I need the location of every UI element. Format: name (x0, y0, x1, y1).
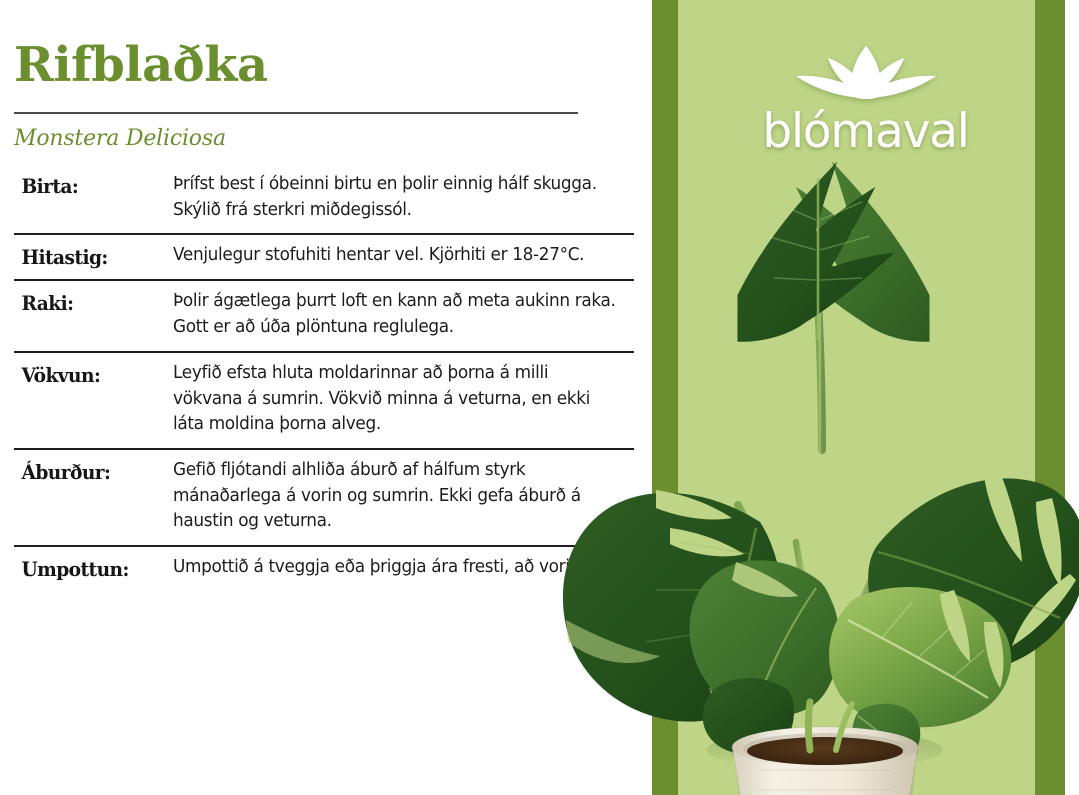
care-text: Leyfið efsta hluta moldarinnar að þorna … (173, 361, 618, 438)
panel-stripe-right (1035, 0, 1065, 795)
panel-stripe-left (652, 0, 678, 795)
care-label: Raki: (14, 289, 162, 315)
page-title: Rifblaðka (14, 40, 268, 90)
care-text: Gefið fljótandi alhliða áburð af hálfum … (173, 458, 618, 535)
care-text: Þrífst best í óbeinni birtu en þolir ein… (173, 172, 618, 223)
panel-background (678, 0, 1035, 795)
brand-panel (652, 0, 1079, 795)
care-text: Þolir ágætlega þurrt loft en kann að met… (173, 289, 618, 340)
care-row-aburdur: Áburður: Gefið fljótandi alhliða áburð a… (14, 448, 634, 545)
care-text: Umpottið á tveggja eða þriggja ára frest… (173, 555, 618, 581)
care-row-vokvun: Vökvun: Leyfið efsta hluta moldarinnar a… (14, 351, 634, 448)
care-label: Vökvun: (14, 361, 162, 387)
care-label: Birta: (14, 172, 162, 198)
title-divider (14, 112, 578, 114)
species-subtitle: Monstera Deliciosa (14, 126, 226, 151)
care-row-raki: Raki: Þolir ágætlega þurrt loft en kann … (14, 279, 634, 350)
care-card: Rifblaðka Monstera Deliciosa Birta: Þríf… (0, 0, 652, 795)
care-row-hitastig: Hitastig: Venjulegur stofuhiti hentar ve… (14, 233, 634, 279)
care-text: Venjulegur stofuhiti hentar vel. Kjörhit… (173, 243, 618, 269)
care-label: Umpottun: (14, 555, 162, 581)
care-row-birta: Birta: Þrífst best í óbeinni birtu en þo… (14, 164, 634, 233)
care-label: Áburður: (14, 458, 162, 484)
care-label: Hitastig: (14, 243, 162, 269)
care-rows: Birta: Þrífst best í óbeinni birtu en þo… (14, 164, 634, 591)
care-row-umpottun: Umpottun: Umpottið á tveggja eða þriggja… (14, 545, 634, 591)
panel-white-edge (1065, 0, 1079, 795)
